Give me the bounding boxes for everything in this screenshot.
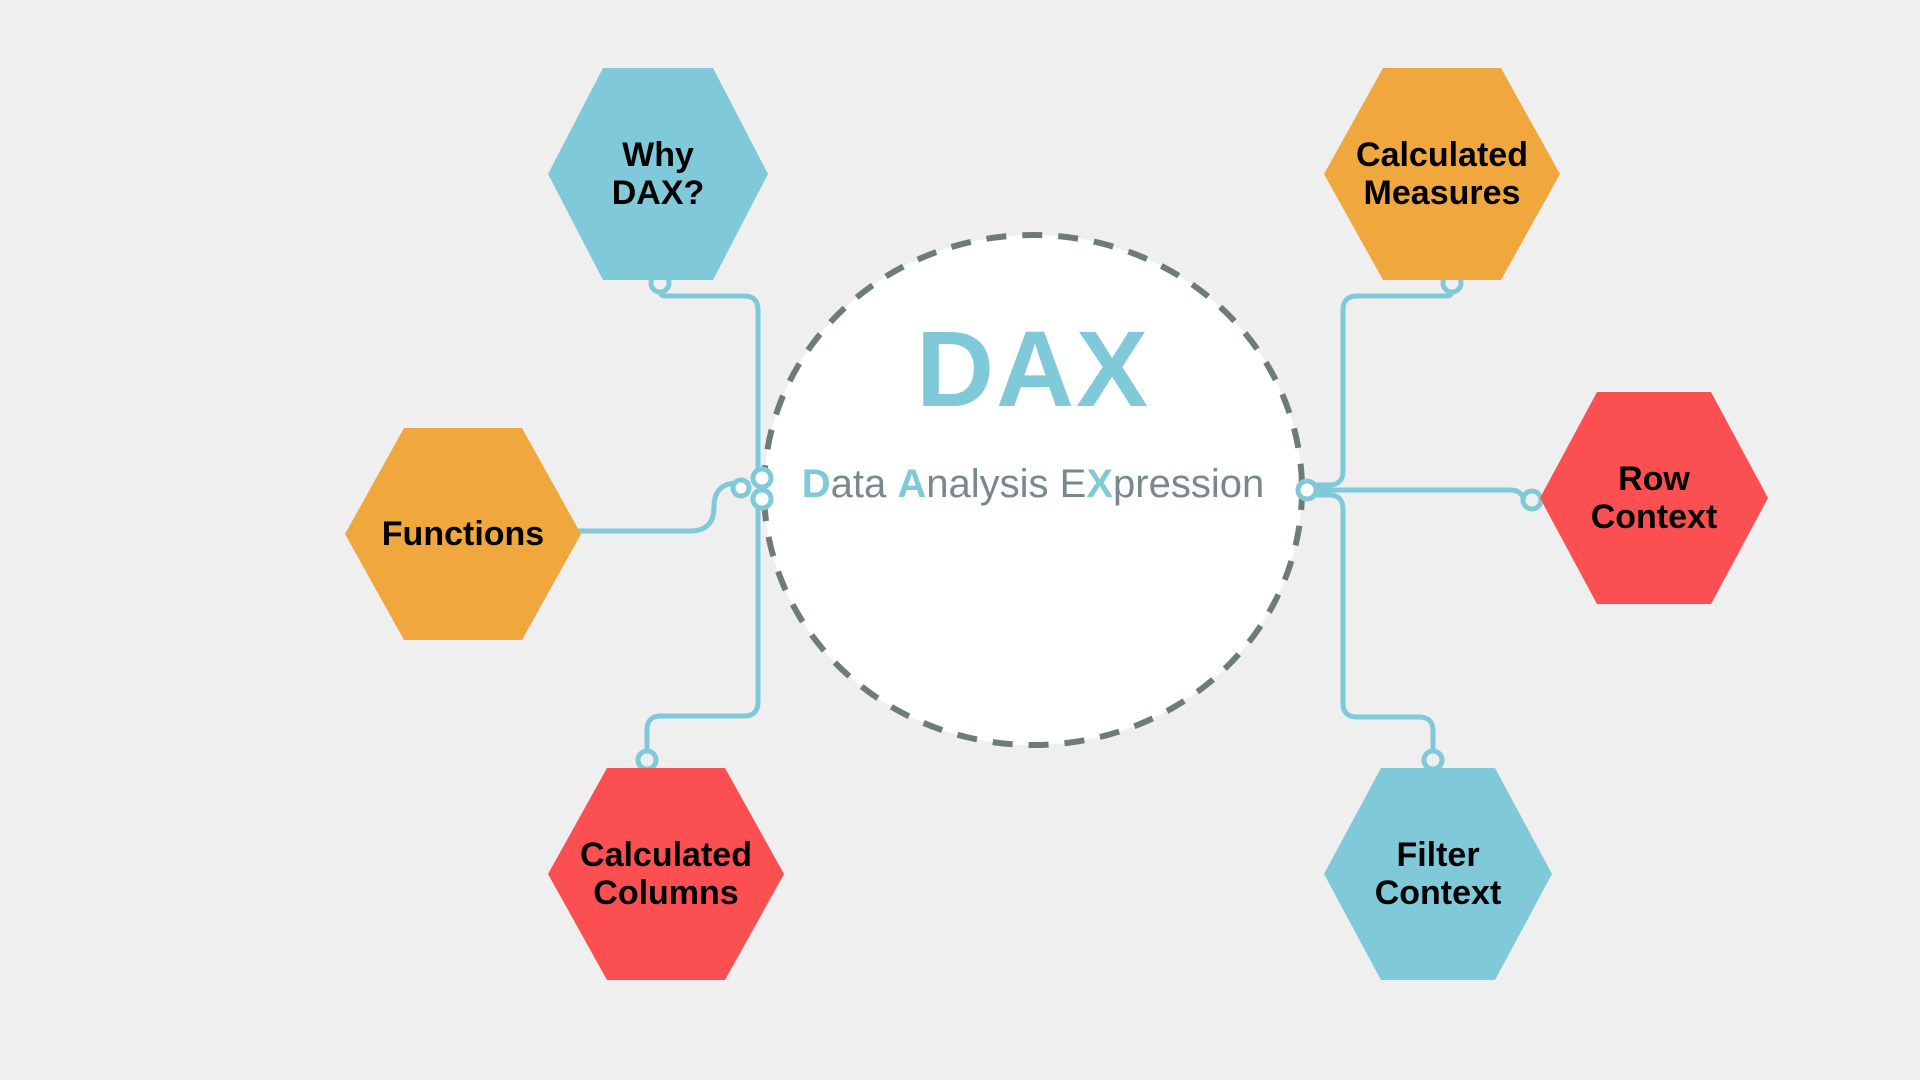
diagram-canvas: DAX Data Analysis EXpression Why DAX? Ca… [0,0,1920,1080]
node-filter-context-line-2: Context [1369,874,1508,912]
node-calculated-columns-line-2: Columns [574,874,758,912]
connector-dot-row-context [1523,491,1541,509]
connector-functions [570,483,748,531]
node-why-dax-line-2: DAX? [606,174,711,212]
connector-calculated-measures [1315,288,1452,485]
node-calculated-columns-line-1: Calculated [574,836,758,874]
node-calculated-measures-line-1: Calculated [1350,136,1534,174]
node-why-dax-line-1: Why [606,136,711,174]
node-row-context-line-1: Row [1585,460,1724,498]
connector-dot-calculated-columns [638,751,656,769]
hub-title: DAX [764,315,1302,423]
node-functions-line-1: Functions [376,515,550,553]
hub-junction-left-middle [733,480,749,496]
connector-row-context [1315,490,1524,504]
node-calculated-measures-line-2: Measures [1350,174,1534,212]
connector-calculated-columns [647,500,758,751]
central-hub: DAX Data Analysis EXpression [764,235,1302,745]
node-filter-context-line-1: Filter [1369,836,1508,874]
connector-why-dax [660,288,758,475]
hub-subtitle: Data Analysis EXpression [764,461,1302,507]
connector-filter-context [1315,495,1433,751]
node-row-context-line-2: Context [1585,498,1724,536]
connector-dot-filter-context [1424,751,1442,769]
